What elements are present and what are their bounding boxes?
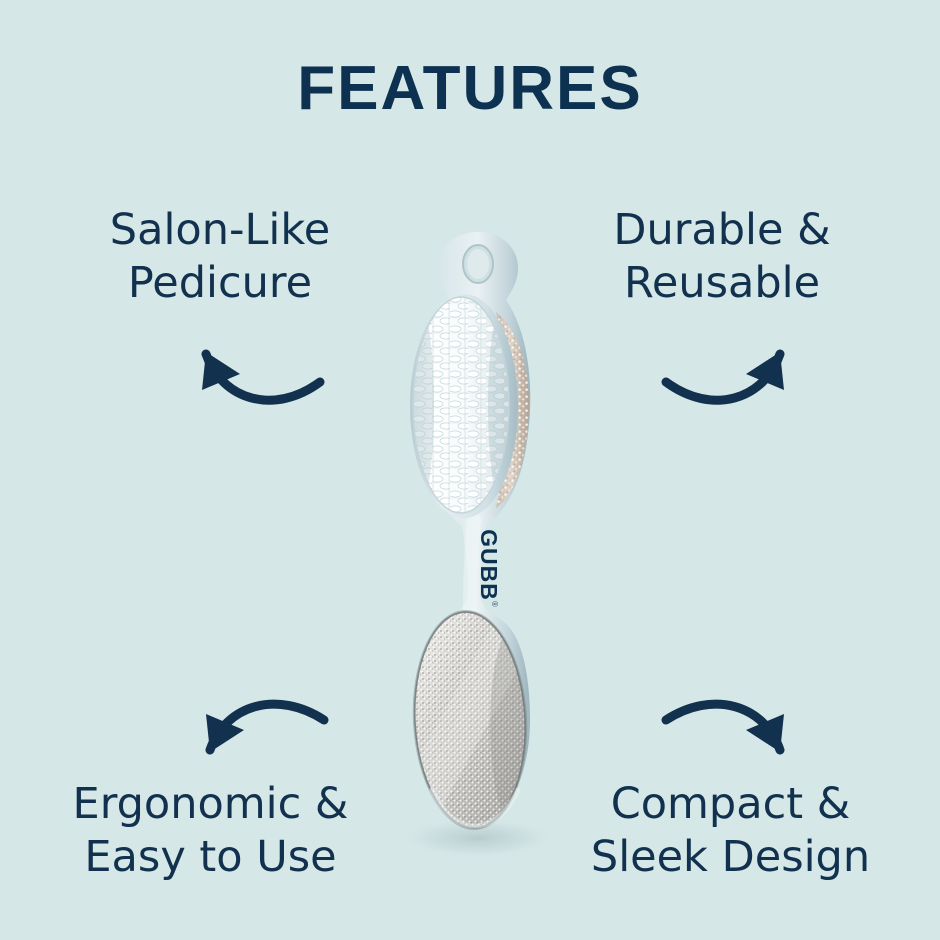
feature-label-line-2: Reusable bbox=[562, 257, 882, 310]
feature-label-durable-reusable: Durable & Reusable bbox=[562, 204, 882, 311]
feature-label-ergonomic-easy-to-use: Ergonomic & Easy to Use bbox=[38, 778, 383, 885]
product-vector: GUBB ® bbox=[378, 220, 578, 860]
feature-label-line-2: Sleek Design bbox=[558, 831, 903, 884]
feature-label-salon-like-pedicure: Salon-Like Pedicure bbox=[60, 204, 380, 311]
features-infographic: FEATURES Salon-Like Pedicure Durable & R… bbox=[0, 0, 940, 940]
brand-logo-gubb: GUBB ® bbox=[476, 529, 502, 607]
brand-registered-mark: ® bbox=[490, 601, 499, 607]
curved-arrow-up-right-icon bbox=[654, 338, 804, 423]
feature-label-line-1: Compact & bbox=[558, 778, 903, 831]
feature-label-line-1: Durable & bbox=[562, 204, 882, 257]
feature-label-line-1: Ergonomic & bbox=[38, 778, 383, 831]
hanging-loop-inner-shade bbox=[467, 249, 489, 279]
curved-arrow-down-left-icon bbox=[186, 688, 336, 773]
feature-label-compact-sleek-design: Compact & Sleek Design bbox=[558, 778, 903, 885]
curved-arrow-up-left-icon bbox=[182, 338, 332, 423]
metal-foot-file bbox=[407, 605, 546, 840]
feature-label-line-2: Pedicure bbox=[60, 257, 380, 310]
curved-arrow-down-right-icon bbox=[654, 688, 804, 773]
page-title: FEATURES bbox=[0, 58, 940, 120]
brand-logo-text: GUBB bbox=[476, 529, 502, 601]
feature-label-line-2: Easy to Use bbox=[38, 831, 383, 884]
feature-label-line-1: Salon-Like bbox=[60, 204, 380, 257]
product-image-pedicure-foot-brush: GUBB ® bbox=[378, 220, 578, 860]
